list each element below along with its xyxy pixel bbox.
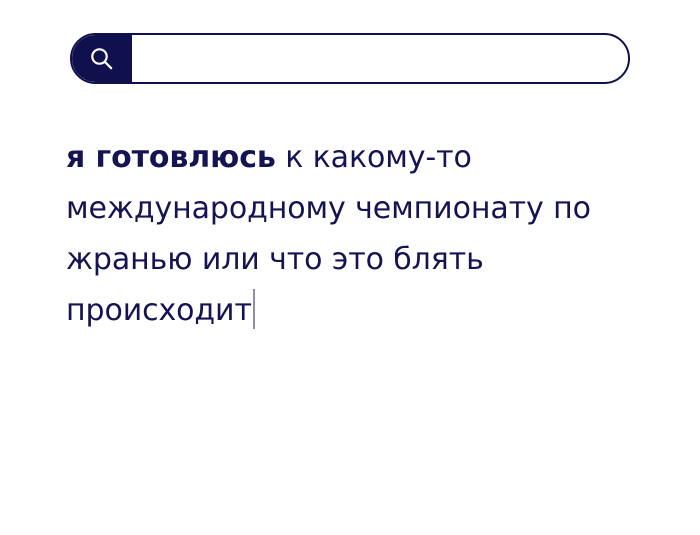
search-bar[interactable]	[70, 33, 630, 84]
text-caret	[253, 289, 255, 329]
caption-lead: я готовлюсь	[66, 140, 276, 175]
search-icon-button[interactable]	[72, 35, 132, 82]
search-icon	[89, 46, 115, 72]
caption-text: я готовлюсь к какому-то международному ч…	[66, 132, 666, 336]
search-input[interactable]	[132, 35, 628, 82]
page-canvas: я готовлюсь к какому-то международному ч…	[0, 0, 700, 535]
